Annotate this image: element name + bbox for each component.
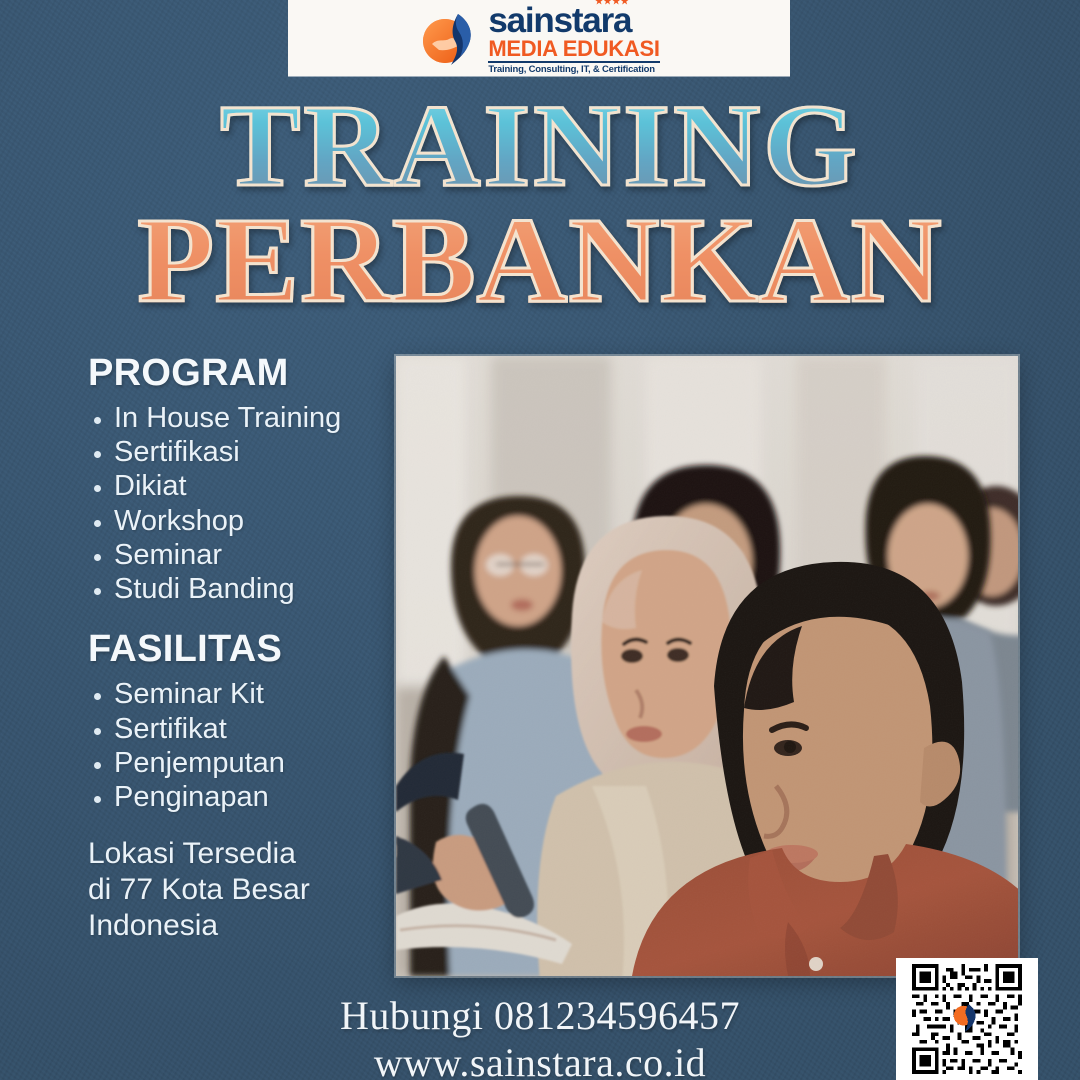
brand-logo: sainstara ★★★★ MEDIA EDUKASI Training, C… [418,4,659,75]
title-line-perbankan: PERBANKAN [0,205,1080,317]
list-item: Workshop [88,504,388,538]
list-item: Seminar Kit [88,677,388,711]
logo-stars-icon: ★★★★ [595,0,629,5]
title-line-training: TRAINING [0,92,1080,201]
sainstara-flame-icon [418,8,480,70]
location-line-2: di 77 Kota Besar [88,872,388,908]
program-list: In House Training Sertifikasi Dikiat Wor… [88,401,388,606]
logo-wordmark: sainstara ★★★★ [488,4,631,37]
logo-header-band: sainstara ★★★★ MEDIA EDUKASI Training, C… [288,0,790,76]
fasilitas-list: Seminar Kit Sertifikat Penjemputan Pengi… [88,677,388,814]
logo-tagline: Training, Consulting, IT, & Certificatio… [488,65,659,75]
list-item: Penginapan [88,780,388,814]
list-item: Studi Banding [88,572,388,606]
fasilitas-heading: FASILITAS [88,628,388,671]
logo-subtitle: MEDIA EDUKASI [488,37,659,63]
list-item: In House Training [88,401,388,435]
poster-title: TRAINING PERBANKAN [0,92,1080,317]
classroom-photo [396,356,1018,976]
location-line-1: Lokasi Tersedia [88,836,388,872]
list-item: Sertifikasi [88,435,388,469]
logo-name-text: sainstara [488,1,631,40]
list-item: Dikiat [88,469,388,503]
info-column: PROGRAM In House Training Sertifikasi Di… [88,352,388,944]
list-item: Seminar [88,538,388,572]
list-item: Penjemputan [88,746,388,780]
location-note: Lokasi Tersedia di 77 Kota Besar Indones… [88,836,388,944]
program-heading: PROGRAM [88,352,388,395]
location-line-3: Indonesia [88,908,388,944]
poster-canvas: sainstara ★★★★ MEDIA EDUKASI Training, C… [0,0,1080,1080]
qr-code[interactable] [896,958,1038,1080]
list-item: Sertifikat [88,712,388,746]
